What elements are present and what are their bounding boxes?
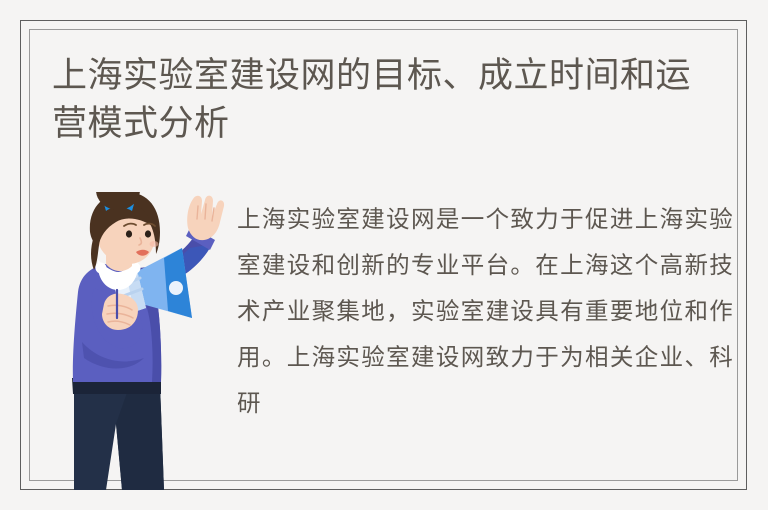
woman-with-megaphone-illustration <box>60 192 230 494</box>
eye-left <box>126 230 132 237</box>
article-body-text: 上海实验室建设网是一个致力于促进上海实验室建设和创新的专业平台。在上海这个高新技… <box>237 196 733 428</box>
collar-scallop-3 <box>112 278 124 290</box>
article-content-row: 上海实验室建设网是一个致力于促进上海实验室建设和创新的专业平台。在上海这个高新技… <box>30 174 737 480</box>
megaphone-cone-highlight <box>169 281 183 295</box>
collar-scallop-4 <box>122 272 134 284</box>
collar-scallop-1 <box>96 263 107 274</box>
collar-scallop-2 <box>102 272 114 284</box>
eye-right <box>145 230 151 237</box>
page-title: 上海实验室建设网的目标、成立时间和运营模式分析 <box>52 52 712 148</box>
article-card: 上海实验室建设网的目标、成立时间和运营模式分析 <box>20 20 747 490</box>
cheek-blush <box>150 241 159 247</box>
article-inner-frame: 上海实验室建设网的目标、成立时间和运营模式分析 <box>29 29 738 481</box>
